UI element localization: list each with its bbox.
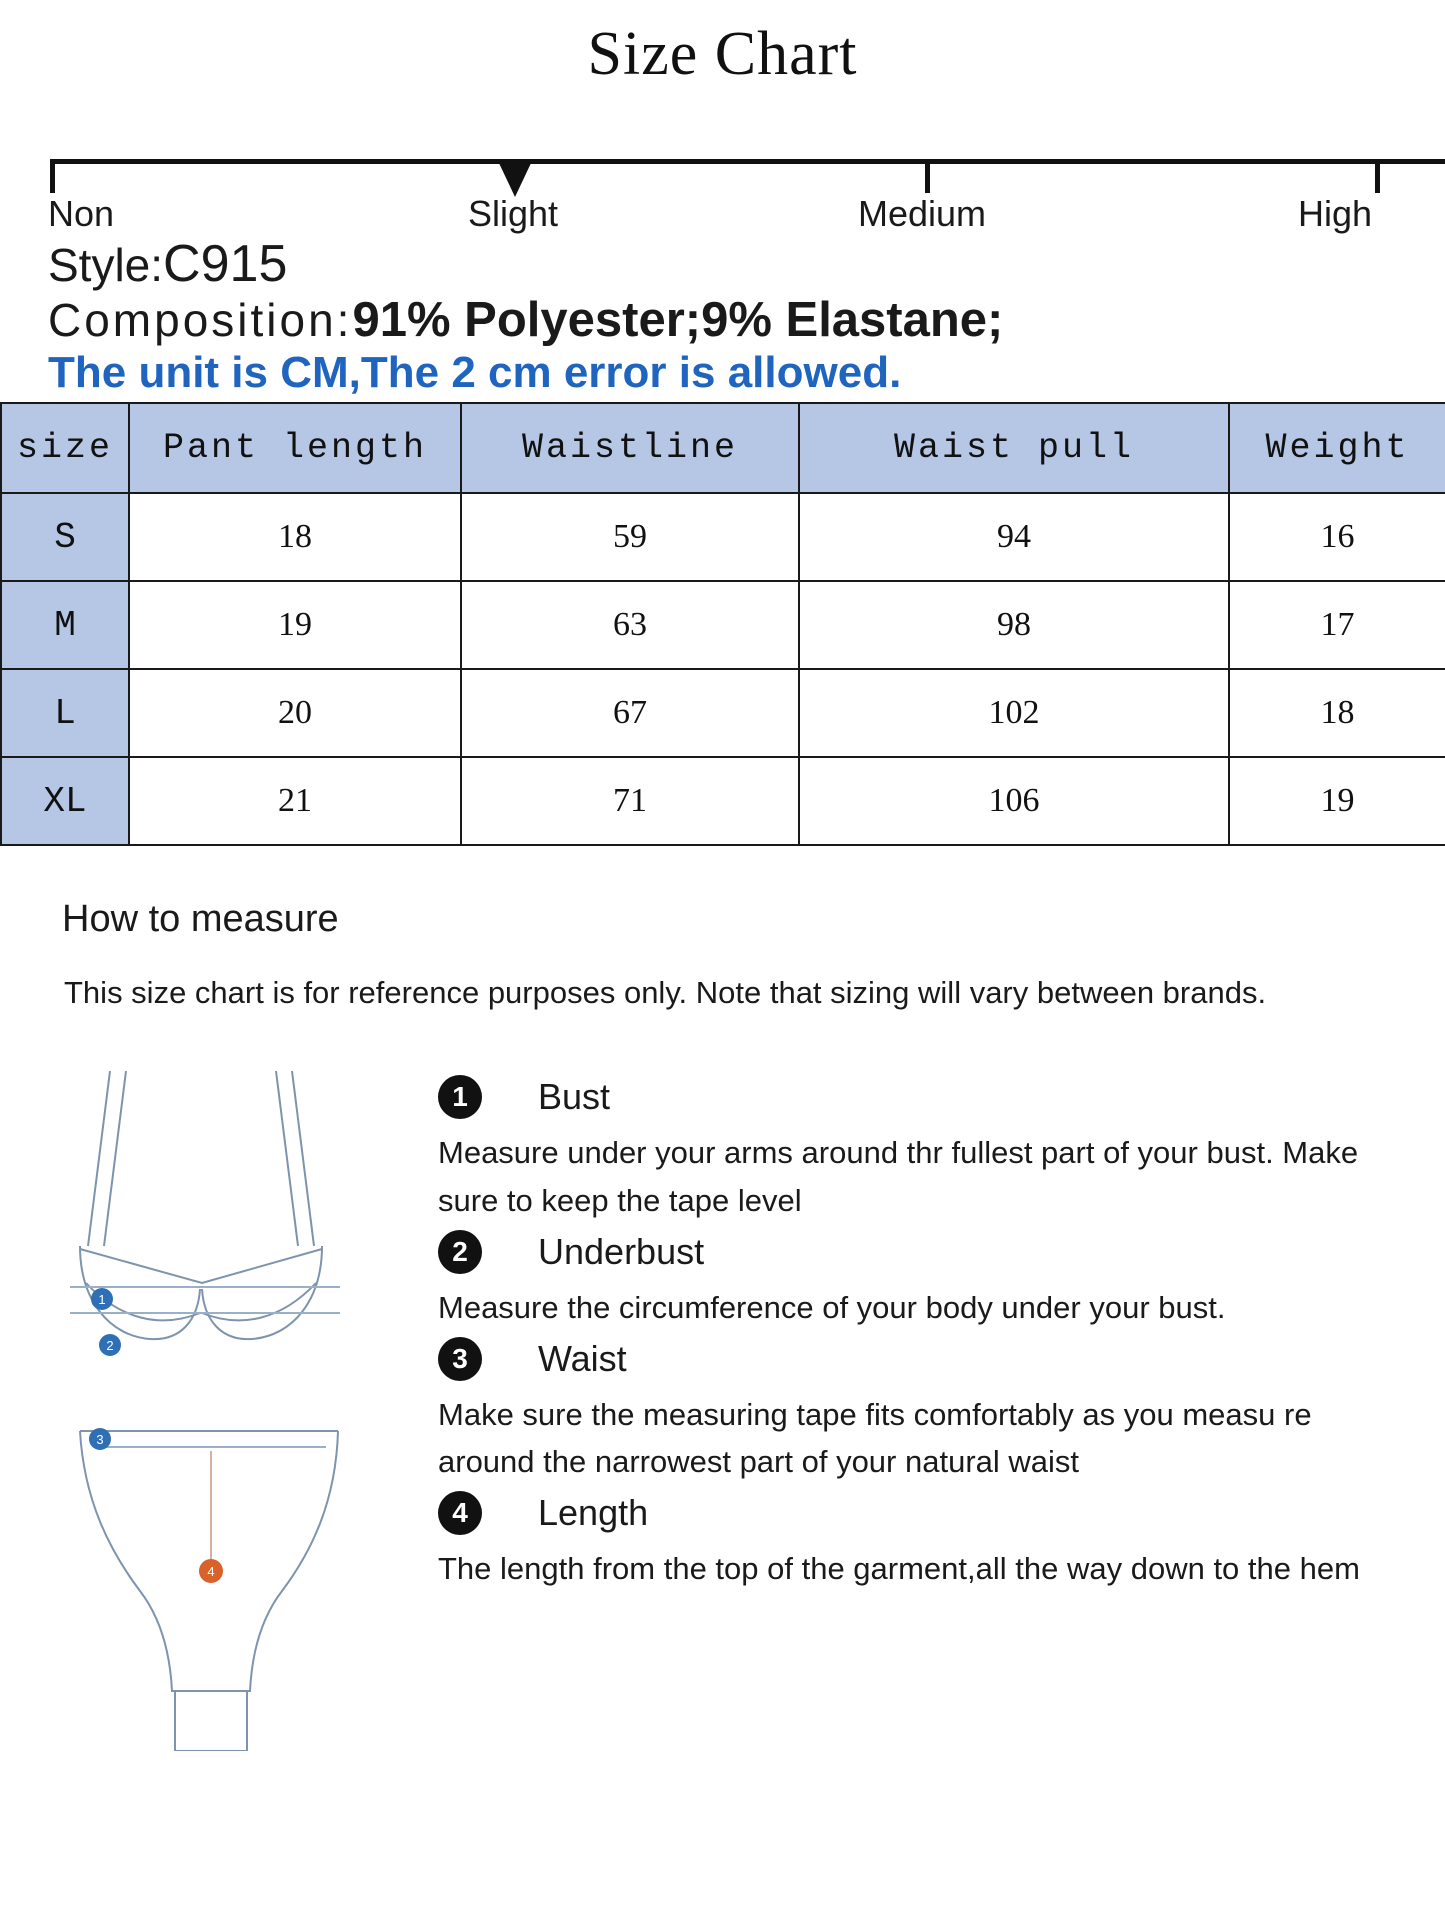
step-title-underbust: Underbust (538, 1231, 704, 1273)
cell-size: L (1, 669, 129, 757)
step-number-4-icon: 4 (438, 1491, 482, 1535)
composition-value: 91% Polyester;9% Elastane; (352, 293, 1003, 347)
step-body-bust: Measure under your arms around thr fulle… (438, 1129, 1378, 1223)
step-title-waist: Waist (538, 1338, 627, 1380)
page-title: Size Chart (0, 0, 1445, 87)
step-title-bust: Bust (538, 1076, 610, 1118)
cell-size: S (1, 493, 129, 581)
style-value: C915 (163, 235, 287, 293)
table-row: M 19 63 98 17 (1, 581, 1445, 669)
cell-pant-length: 20 (129, 669, 461, 757)
measure-section: 1 2 3 4 1 Bust Measure under your arms a… (0, 1051, 1445, 1751)
cell-pant-length: 18 (129, 493, 461, 581)
scale-label-high: High (1298, 193, 1372, 235)
scale-marker-triangle-icon (498, 161, 532, 197)
cell-waist-pull: 106 (799, 757, 1229, 845)
table-row: S 18 59 94 16 (1, 493, 1445, 581)
svg-text:3: 3 (96, 1432, 103, 1447)
style-line: Style:C915 (48, 235, 1445, 293)
cell-weight: 18 (1229, 669, 1445, 757)
measure-step-2-header: 2 Underbust (438, 1230, 1445, 1274)
scale-label-row: Non Slight Medium High (0, 193, 1445, 241)
step-number-2-icon: 2 (438, 1230, 482, 1274)
size-table: size Pant length Waistline Waist pull We… (0, 402, 1445, 846)
scale-tick-high (1375, 159, 1380, 193)
svg-text:4: 4 (207, 1564, 214, 1579)
measure-steps: 1 Bust Measure under your arms around th… (420, 1051, 1445, 1751)
scale-label-non: Non (48, 193, 114, 235)
column-header-weight: Weight (1229, 403, 1445, 493)
cell-pant-length: 19 (129, 581, 461, 669)
cell-waistline: 63 (461, 581, 799, 669)
cell-size: M (1, 581, 129, 669)
cell-weight: 19 (1229, 757, 1445, 845)
cell-waist-pull: 98 (799, 581, 1229, 669)
unit-note: The unit is CM,The 2 cm error is allowed… (48, 350, 1445, 396)
table-row: XL 21 71 106 19 (1, 757, 1445, 845)
cell-waist-pull: 102 (799, 669, 1229, 757)
cell-waist-pull: 94 (799, 493, 1229, 581)
table-header-row: size Pant length Waistline Waist pull We… (1, 403, 1445, 493)
step-number-1-icon: 1 (438, 1075, 482, 1119)
column-header-waist-pull: Waist pull (799, 403, 1229, 493)
how-to-measure-disclaimer: This size chart is for reference purpose… (0, 941, 1445, 1011)
measure-step-3-header: 3 Waist (438, 1337, 1445, 1381)
svg-text:2: 2 (106, 1338, 113, 1353)
cell-weight: 17 (1229, 581, 1445, 669)
step-number-3-icon: 3 (438, 1337, 482, 1381)
scale-label-medium: Medium (858, 193, 986, 235)
product-meta: Style:C915 Composition:91% Polyester;9% … (0, 223, 1445, 396)
table-row: L 20 67 102 18 (1, 669, 1445, 757)
step-body-waist: Make sure the measuring tape fits comfor… (438, 1391, 1378, 1485)
step-title-length: Length (538, 1492, 648, 1534)
svg-text:1: 1 (98, 1292, 105, 1307)
composition-label: Composition: (48, 294, 352, 346)
scale-tick-medium (925, 159, 930, 193)
column-header-size: size (1, 403, 129, 493)
step-body-underbust: Measure the circumference of your body u… (438, 1284, 1378, 1331)
step-body-length: The length from the top of the garment,a… (438, 1545, 1378, 1592)
cell-waistline: 59 (461, 493, 799, 581)
composition-line: Composition:91% Polyester;9% Elastane; (48, 293, 1445, 348)
measure-step-1-header: 1 Bust (438, 1075, 1445, 1119)
intensity-scale: Non Slight Medium High (0, 113, 1445, 223)
scale-label-slight: Slight (468, 193, 558, 235)
scale-axis-line (50, 159, 1445, 164)
cell-size: XL (1, 757, 129, 845)
cell-waistline: 67 (461, 669, 799, 757)
style-label: Style: (48, 239, 163, 291)
column-header-pant-length: Pant length (129, 403, 461, 493)
cell-waistline: 71 (461, 757, 799, 845)
measure-step-4-header: 4 Length (438, 1491, 1445, 1535)
bra-and-panty-line-art-icon: 1 2 3 4 (40, 1051, 420, 1751)
size-chart-page: Size Chart Non Slight Medium High Style:… (0, 0, 1445, 1926)
column-header-waistline: Waistline (461, 403, 799, 493)
scale-tick-non (50, 159, 55, 193)
garment-illustration: 1 2 3 4 (40, 1051, 420, 1751)
how-to-measure-heading: How to measure (0, 846, 1445, 941)
cell-weight: 16 (1229, 493, 1445, 581)
cell-pant-length: 21 (129, 757, 461, 845)
